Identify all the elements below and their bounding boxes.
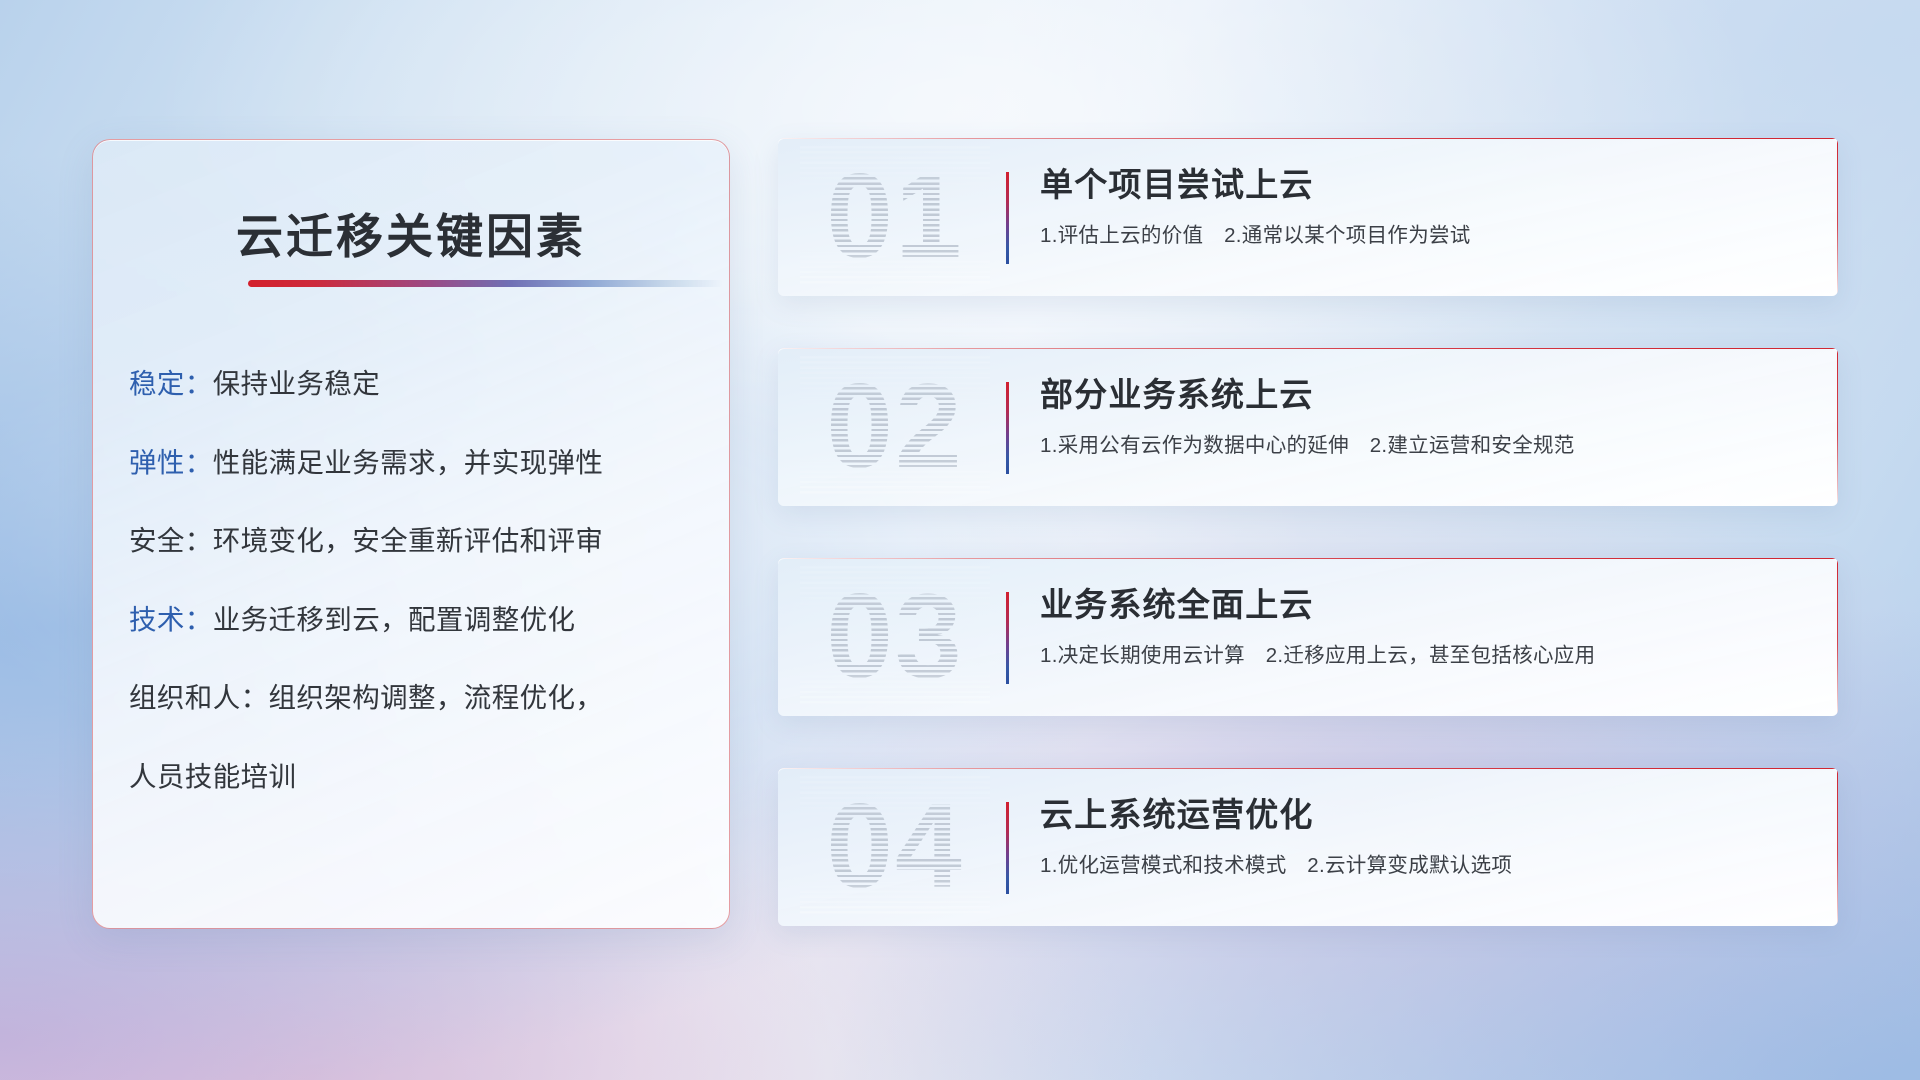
list-item: 技术：业务迁移到云，配置调整优化 [129,606,703,634]
step-divider-accent [1006,382,1009,474]
factor-list: 稳定：保持业务稳定 弹性：性能满足业务需求，并实现弹性 安全：环境变化，安全重新… [129,370,703,790]
step-divider-accent [1006,592,1009,684]
step-number-badge: 02 [800,356,990,496]
step-card[interactable]: 04 云上系统运营优化 1.优化运营模式和技术模式 2.云计算变成默认选项 [778,768,1838,926]
step-body: 云上系统运营优化 1.优化运营模式和技术模式 2.云计算变成默认选项 [1040,795,1812,880]
step-number-badge: 04 [800,776,990,916]
step-subtitle: 1.优化运营模式和技术模式 2.云计算变成默认选项 [1040,853,1812,880]
step-number-badge: 01 [800,146,990,286]
step-subtitle: 1.采用公有云作为数据中心的延伸 2.建立运营和安全规范 [1040,433,1812,460]
step-divider-accent [1006,802,1009,894]
step-body: 单个项目尝试上云 1.评估上云的价值 2.通常以某个项目作为尝试 [1040,165,1812,250]
list-item: 组织和人：组织架构调整，流程优化， [129,684,703,712]
factor-label: 稳定： [129,368,213,399]
list-item: 人员技能培训 [129,763,703,791]
list-item: 安全：环境变化，安全重新评估和评审 [129,527,703,555]
step-card[interactable]: 02 部分业务系统上云 1.采用公有云作为数据中心的延伸 2.建立运营和安全规范 [778,348,1838,506]
step-card[interactable]: 03 业务系统全面上云 1.决定长期使用云计算 2.迁移应用上云，甚至包括核心应… [778,558,1838,716]
key-factors-panel: 云迁移关键因素 稳定：保持业务稳定 弹性：性能满足业务需求，并实现弹性 安全：环… [92,139,730,929]
step-title: 云上系统运营优化 [1040,795,1812,835]
factor-text: 业务迁移到云，配置调整优化 [213,604,576,635]
factor-label: 弹性： [129,447,213,478]
step-subtitle: 1.决定长期使用云计算 2.迁移应用上云，甚至包括核心应用 [1040,643,1812,670]
title-underline-accent [248,280,723,287]
step-subtitle: 1.评估上云的价值 2.通常以某个项目作为尝试 [1040,223,1812,250]
step-title: 业务系统全面上云 [1040,585,1812,625]
step-number-badge: 03 [800,566,990,706]
step-body: 业务系统全面上云 1.决定长期使用云计算 2.迁移应用上云，甚至包括核心应用 [1040,585,1812,670]
factor-text: 保持业务稳定 [213,368,380,399]
factor-label: 技术： [129,604,213,635]
factor-text: 人员技能培训 [129,761,296,792]
migration-steps-list: 01 单个项目尝试上云 1.评估上云的价值 2.通常以某个项目作为尝试 02 部… [778,138,1838,926]
step-title: 部分业务系统上云 [1040,375,1812,415]
factor-text: 组织架构调整，流程优化， [269,682,604,713]
factor-text: 环境变化，安全重新评估和评审 [213,525,604,556]
factor-label: 安全： [129,525,213,556]
step-title: 单个项目尝试上云 [1040,165,1812,205]
step-body: 部分业务系统上云 1.采用公有云作为数据中心的延伸 2.建立运营和安全规范 [1040,375,1812,460]
slide-canvas: 云迁移关键因素 稳定：保持业务稳定 弹性：性能满足业务需求，并实现弹性 安全：环… [0,0,1920,1080]
list-item: 稳定：保持业务稳定 [129,370,703,398]
step-card[interactable]: 01 单个项目尝试上云 1.评估上云的价值 2.通常以某个项目作为尝试 [778,138,1838,296]
factor-label: 组织和人： [129,682,269,713]
page-title: 云迁移关键因素 [93,198,729,267]
step-divider-accent [1006,172,1009,264]
factor-text: 性能满足业务需求，并实现弹性 [213,447,604,478]
list-item: 弹性：性能满足业务需求，并实现弹性 [129,449,703,477]
